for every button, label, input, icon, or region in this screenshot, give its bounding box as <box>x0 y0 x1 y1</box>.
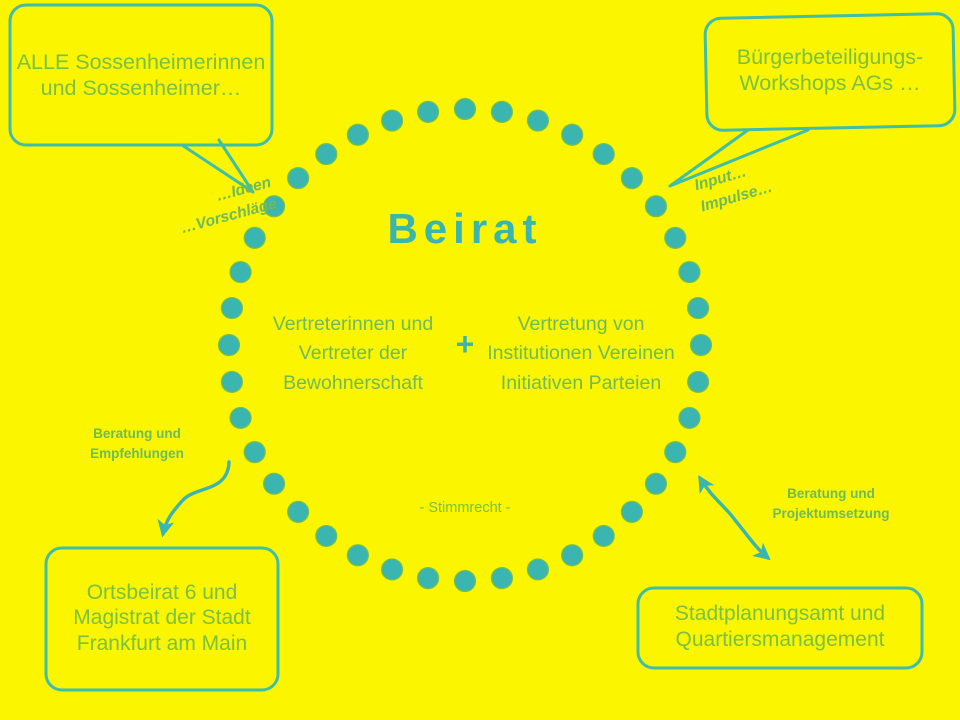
box-text-stadtplanungsamt: Stadtplanungsamt und Quartiersmanagement <box>638 588 922 666</box>
ring-dot <box>347 545 368 566</box>
ring-dot <box>621 168 642 189</box>
ring-dot <box>230 407 251 428</box>
ring-dot <box>455 571 476 592</box>
ring-dot <box>679 262 700 283</box>
ring-dot <box>382 559 403 580</box>
ring-dot <box>288 501 309 522</box>
diagram-canvas: ALLE Sossenheimerinnen und Sossenheimer…… <box>0 0 960 720</box>
ring-dot <box>527 110 548 131</box>
ring-dot <box>264 473 285 494</box>
ring-dot <box>679 407 700 428</box>
ring-dot <box>491 101 512 122</box>
arrow-beratung-empfehlungen <box>163 462 229 534</box>
ring-dot <box>688 298 709 319</box>
ring-dot <box>418 568 439 589</box>
center-right-column: Vertretung von Institutionen Vereinen In… <box>486 310 676 398</box>
box-stadtplanungsamt-label: Stadtplanungsamt und Quartiersmanagement <box>638 601 922 652</box>
ring-dot <box>688 371 709 392</box>
ring-dot <box>382 110 403 131</box>
ring-dot <box>221 371 242 392</box>
callout-all-label: ALLE Sossenheimerinnen und Sossenheimer… <box>14 49 268 101</box>
box-ortsbeirat-label: Ortsbeirat 6 und Magistrat der Stadt Fra… <box>46 580 278 657</box>
plus-icon: + <box>443 326 487 363</box>
center-left-column: Vertreterinnen und Vertreter der Bewohne… <box>258 310 448 398</box>
stimmrecht-footnote: - Stimmrecht - <box>365 500 565 516</box>
ring-dot <box>593 144 614 165</box>
ring-dot <box>527 559 548 580</box>
box-text-ortsbeirat: Ortsbeirat 6 und Magistrat der Stadt Fra… <box>46 548 278 688</box>
annotation-beratung-empfehlungen: Beratung und Empfehlungen <box>62 424 212 465</box>
ring-dot <box>221 298 242 319</box>
ring-dot <box>288 168 309 189</box>
callout-text-workshops: Bürgerbeteiligungs- Workshops AGs … <box>706 16 954 124</box>
ring-dot <box>244 442 265 463</box>
ring-dot <box>418 101 439 122</box>
ring-dot <box>219 335 240 356</box>
ring-dot <box>491 568 512 589</box>
ring-dot <box>455 99 476 120</box>
ring-dot <box>316 525 337 546</box>
annotation-beratung-projektumsetzung: Beratung und Projektumsetzung <box>740 484 922 525</box>
ring-dot <box>347 124 368 145</box>
ring-dot <box>645 473 666 494</box>
ring-dot <box>621 501 642 522</box>
ring-dot <box>593 525 614 546</box>
ring-dot <box>562 545 583 566</box>
ring-dot <box>562 124 583 145</box>
ring-dot <box>316 144 337 165</box>
callout-workshops-label: Bürgerbeteiligungs- Workshops AGs … <box>706 44 954 96</box>
callout-text-all-residents: ALLE Sossenheimerinnen und Sossenheimer… <box>14 8 268 142</box>
ring-dot <box>691 335 712 356</box>
ring-dot <box>230 262 251 283</box>
ring-dot <box>665 442 686 463</box>
